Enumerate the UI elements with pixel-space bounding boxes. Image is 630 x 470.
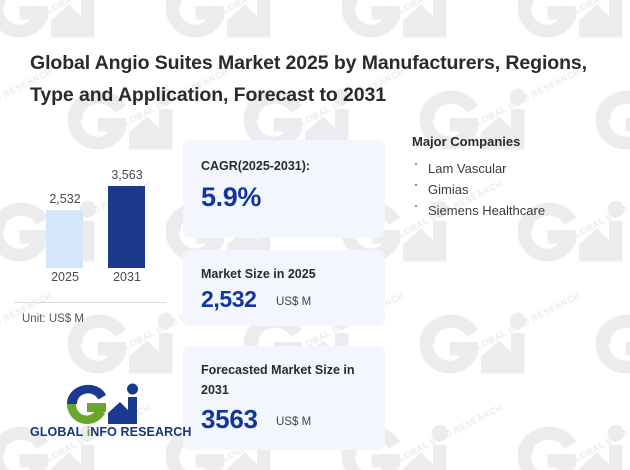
chart-unit-label: Unit: US$ M [22, 313, 84, 325]
gi-logo-mark-icon [62, 383, 142, 427]
bar-value-2031: 3,563 [97, 168, 157, 182]
company-list-item: Gimias [412, 179, 617, 200]
bar-2025 [46, 210, 83, 268]
watermark-gi-icon: GLOBAL INFO RESEARCH [158, 0, 278, 44]
cagr-card-value: 5.9% [201, 182, 261, 213]
major-companies-list: Lam VascularGimiasSiemens Healthcare [412, 158, 617, 221]
watermark-text: GLOBAL INFO RESEARCH [390, 0, 504, 19]
market-size-2025-card: Market Size in 2025 2,532 US$ M [183, 250, 385, 326]
major-companies-section: Major Companies Lam VascularGimiasSiemen… [412, 134, 617, 221]
market-size-2031-value: 3563 [201, 404, 258, 435]
page-title: Global Angio Suites Market 2025 by Manuf… [30, 47, 605, 111]
bar-2031 [108, 186, 145, 268]
category-label-2031: 2031 [97, 270, 157, 284]
watermark-gi-icon: GLOBAL INFO RESEARCH [0, 0, 102, 44]
market-size-2031-title: Forecasted Market Size in 2031 [201, 360, 371, 400]
logo-text-part2: NFO RESEARCH [90, 425, 191, 439]
watermark-gi-icon: GLOBAL INFO RESEARCH [0, 310, 4, 380]
logo-text-part1: GLOBAL [30, 425, 87, 439]
company-name: Lam Vascular [428, 161, 507, 176]
market-size-bar-chart: 2,532 3,563 2025 2031 [14, 150, 179, 335]
market-size-2025-value: 2,532 [201, 286, 257, 313]
cagr-card-title: CAGR(2025-2031): [201, 156, 310, 176]
watermark-text: GLOBAL INFO RESEARCH [390, 402, 504, 467]
market-size-2031-unit: US$ M [276, 416, 311, 428]
market-size-2025-unit: US$ M [276, 296, 311, 308]
infographic-page: GLOBAL INFO RESEARCHGLOBAL INFO RESEARCH… [0, 0, 630, 470]
major-companies-heading: Major Companies [412, 134, 617, 149]
logo-wordmark: GLOBAL iNFO RESEARCH [30, 425, 172, 439]
chart-plot-area: 2,532 3,563 [14, 150, 179, 268]
bullet-icon [415, 184, 417, 186]
watermark-text: GLOBAL INFO RESEARCH [468, 290, 582, 355]
category-label-2025: 2025 [35, 270, 95, 284]
watermark-text: GLOBAL INFO RESEARCH [38, 0, 152, 19]
bullet-icon [415, 163, 417, 165]
watermark-gi-icon: GLOBAL INFO RESEARCH [510, 422, 630, 470]
bullet-icon [415, 205, 417, 207]
market-size-2031-card: Forecasted Market Size in 2031 3563 US$ … [183, 346, 385, 450]
company-list-item: Siemens Healthcare [412, 200, 617, 221]
bar-value-2025: 2,532 [35, 192, 95, 206]
chart-divider [14, 302, 166, 303]
company-list-item: Lam Vascular [412, 158, 617, 179]
watermark-text: GLOBAL INFO RESEARCH [566, 402, 630, 467]
watermark-gi-icon: GLOBAL INFO RESEARCH [334, 0, 454, 44]
watermark-text: GLOBAL INFO RESEARCH [566, 0, 630, 19]
company-name: Gimias [428, 182, 468, 197]
global-info-research-logo: GLOBAL iNFO RESEARCH [30, 383, 172, 445]
watermark-gi-icon: GLOBAL INFO RESEARCH [412, 310, 532, 380]
watermark-gi-icon: GLOBAL INFO RESEARCH [510, 0, 630, 44]
watermark-gi-icon: GLOBAL INFO RESEARCH [588, 310, 630, 380]
market-size-2025-title: Market Size in 2025 [201, 264, 316, 284]
cagr-card: CAGR(2025-2031): 5.9% [183, 140, 385, 238]
watermark-gi-icon: GLOBAL INFO RESEARCH [0, 86, 4, 156]
watermark-text: GLOBAL INFO RESEARCH [214, 0, 328, 19]
company-name: Siemens Healthcare [428, 203, 545, 218]
chart-category-axis: 2025 2031 [14, 270, 179, 292]
